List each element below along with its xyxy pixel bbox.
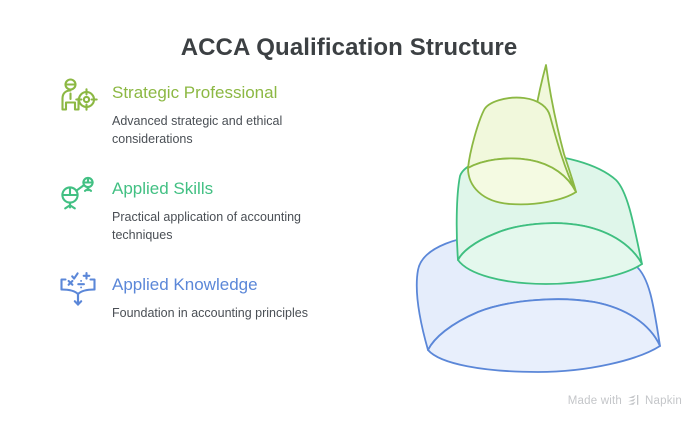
- cone-tier-strategic-professional: [468, 65, 576, 204]
- watermark-brand: Napkin: [645, 395, 682, 407]
- level-description: Foundation in accounting principles: [112, 304, 360, 322]
- level-description: Advanced strategic and ethical considera…: [112, 112, 360, 148]
- qualification-levels-list: Strategic Professional Advanced strategi…: [55, 74, 385, 344]
- diagram-canvas: ACCA Qualification Structure Strategi: [0, 0, 698, 421]
- level-item-applied-skills[interactable]: Applied Skills Practical application of …: [55, 170, 385, 244]
- napkin-logo-icon: [627, 394, 640, 407]
- book-math-icon: [57, 268, 99, 310]
- three-tier-spiral-cone-diagram: [398, 50, 668, 380]
- level-heading: Strategic Professional: [112, 74, 385, 104]
- watermark-text: Made with: [568, 395, 622, 407]
- level-heading: Applied Knowledge: [112, 266, 385, 296]
- level-heading: Applied Skills: [112, 170, 385, 200]
- level-item-strategic-professional[interactable]: Strategic Professional Advanced strategi…: [55, 74, 385, 148]
- level-description: Practical application of accounting tech…: [112, 208, 360, 244]
- level-item-applied-knowledge[interactable]: Applied Knowledge Foundation in accounti…: [55, 266, 385, 322]
- person-target-icon: [57, 76, 99, 118]
- skills-growth-icon: [57, 172, 99, 214]
- napkin-watermark: Made with Napkin: [568, 394, 682, 407]
